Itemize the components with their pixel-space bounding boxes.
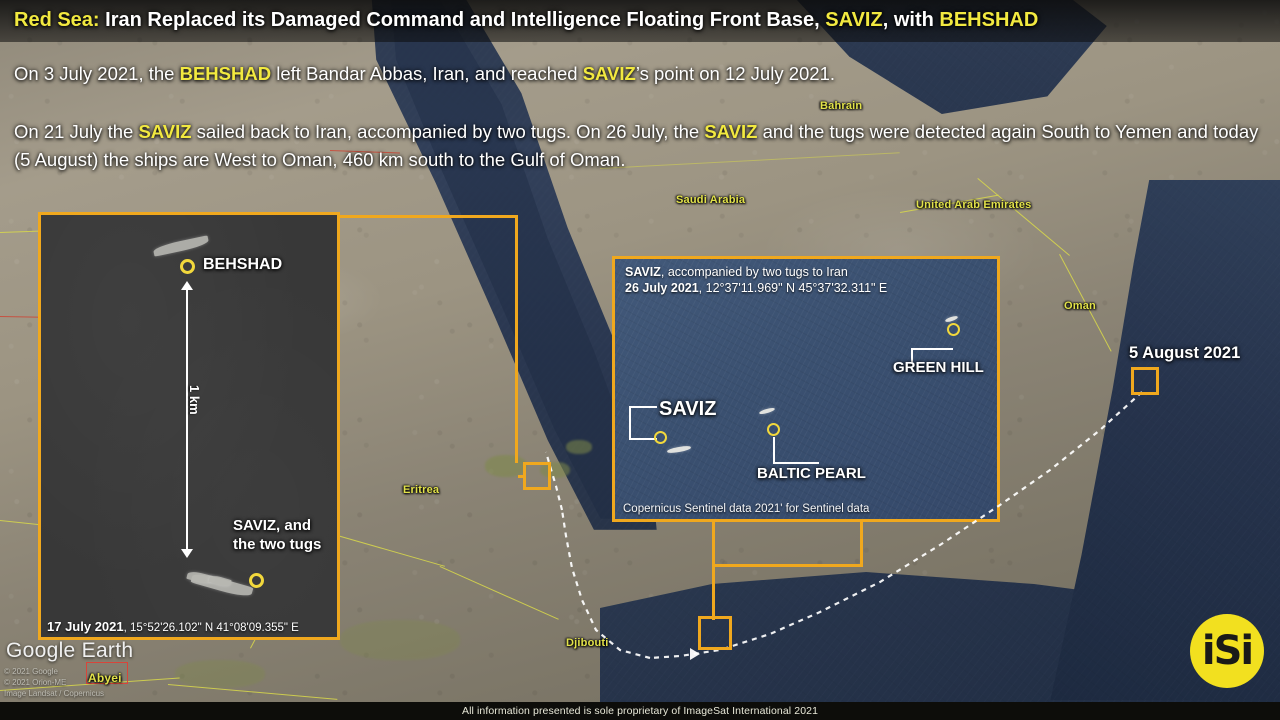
page-title: Red Sea: Iran Replaced its Damaged Comma…: [14, 9, 1038, 32]
footer-text: All information presented is sole propri…: [462, 705, 818, 717]
p1-saviz: SAVIZ: [583, 63, 636, 84]
vegetation-patch: [340, 620, 460, 660]
leader-line-saviz-vert: [629, 406, 631, 439]
p2-saviz-1: SAVIZ: [138, 121, 191, 142]
label-saviz-tugs-line1: SAVIZ, and: [233, 517, 311, 534]
label-saviz-sentinel: SAVIZ: [659, 398, 716, 421]
inset-panel-17-july[interactable]: BEHSHAD 1 km SAVIZ, and the two tugs 17 …: [38, 212, 340, 640]
p1-behshad: BEHSHAD: [180, 63, 271, 84]
leader-line-saviz-top: [629, 406, 657, 408]
p1-text-a: On 3 July 2021, the: [14, 63, 180, 84]
label-baltic-pearl: BALTIC PEARL: [757, 465, 866, 482]
callout-connector: [515, 215, 518, 463]
vegetation-patch: [566, 440, 592, 454]
inset-left-caption: 17 July 2021, 15°52'26.102" N 41°08'09.3…: [47, 619, 299, 634]
inset-right-title: SAVIZ: [625, 265, 661, 279]
marker-ring-behshad[interactable]: [180, 259, 195, 274]
paragraph-one: On 3 July 2021, the BEHSHAD left Bandar …: [14, 60, 1194, 88]
p1-text-e: ’s point on 12 July 2021.: [636, 63, 835, 84]
callout-box-26-july[interactable]: [698, 616, 732, 650]
label-saviz-tugs-line2: the two tugs: [233, 536, 321, 553]
marker-ring-baltic-pearl[interactable]: [767, 423, 780, 436]
scale-arrow-bottom: [181, 549, 193, 558]
marker-ring-saviz-sentinel[interactable]: [654, 431, 667, 444]
p2-text-c: sailed back to Iran, accompanied by two …: [192, 121, 705, 142]
imagesat-logo[interactable]: iSi: [1190, 614, 1264, 688]
leader-line-saviz: [629, 438, 657, 440]
marker-ring-green-hill[interactable]: [947, 323, 960, 336]
infographic-canvas: BahrainSaudi ArabiaUnited Arab EmiratesO…: [0, 0, 1280, 720]
label-green-hill: GREEN HILL: [893, 359, 984, 376]
scale-bar: [186, 289, 188, 549]
footer-bar: All information presented is sole propri…: [0, 702, 1280, 720]
p2-saviz-2: SAVIZ: [704, 121, 757, 142]
leader-line-baltic-horiz: [773, 462, 819, 464]
map-label-bahrain: Bahrain: [820, 100, 862, 112]
marker-ring-saviz[interactable]: [249, 573, 264, 588]
vegetation-patch: [175, 660, 265, 688]
label-behshad: BEHSHAD: [203, 256, 282, 274]
imagesat-logo-text: iSi: [1202, 631, 1252, 671]
map-label-eritrea: Eritrea: [403, 484, 439, 496]
callout-connector: [340, 215, 518, 218]
inset-right-date: 26 July 2021: [625, 281, 699, 295]
map-label-united-arab-emirates: United Arab Emirates: [916, 199, 1031, 211]
inset-panel-26-july[interactable]: SAVIZ, accompanied by two tugs to Iran 2…: [612, 256, 1000, 522]
leader-line-baltic-vert: [773, 437, 775, 463]
scale-label-1km: 1 km: [187, 385, 202, 415]
callout-connector: [860, 519, 863, 567]
leader-line-green-hill: [911, 348, 953, 350]
map-label-saudi-arabia: Saudi Arabia: [676, 194, 745, 206]
inset-left-date: 17 July 2021: [47, 619, 124, 634]
attr-line-3: Image Landsat / Copernicus: [4, 688, 104, 699]
callout-box-17-july[interactable]: [523, 462, 551, 490]
p2-text-a: On 21 July the: [14, 121, 138, 142]
p1-text-c: left Bandar Abbas, Iran, and reached: [271, 63, 583, 84]
callout-connector: [712, 564, 862, 567]
attr-line-2: © 2021 Orion-ME: [4, 677, 104, 688]
title-highlight: Red Sea:: [14, 9, 100, 31]
title-ship-behshad: BEHSHAD: [939, 9, 1038, 31]
google-earth-logo: Google Earth: [6, 639, 133, 663]
title-rest: Iran Replaced its Damaged Command and In…: [100, 9, 826, 31]
title-ship-saviz: SAVIZ: [825, 9, 882, 31]
attr-line-1: © 2021 Google: [4, 666, 104, 677]
callout-box-5-august[interactable]: [1131, 367, 1159, 395]
inset-left-coords: , 15°52'26.102" N 41°08'09.355" E: [124, 622, 299, 634]
map-label-oman: Oman: [1064, 300, 1096, 312]
inset-right-coords: , 12°37'11.969" N 45°37'32.311" E: [699, 281, 888, 295]
callout-connector: [712, 565, 715, 620]
inset-right-subtitle: , accompanied by two tugs to Iran: [661, 265, 848, 279]
map-label-djibouti: Djibouti: [566, 637, 609, 649]
title-mid: , with: [883, 9, 940, 31]
date-label-5-august: 5 August 2021: [1129, 344, 1240, 363]
inset-right-attribution: Copernicus Sentinel data 2021' for Senti…: [623, 503, 869, 515]
vegetation-patch: [485, 455, 527, 477]
callout-connector: [712, 519, 715, 567]
paragraph-two: On 21 July the SAVIZ sailed back to Iran…: [14, 118, 1272, 174]
google-earth-attribution: © 2021 Google © 2021 Orion-ME Image Land…: [4, 666, 104, 699]
inset-right-header: SAVIZ, accompanied by two tugs to Iran 2…: [625, 264, 887, 296]
